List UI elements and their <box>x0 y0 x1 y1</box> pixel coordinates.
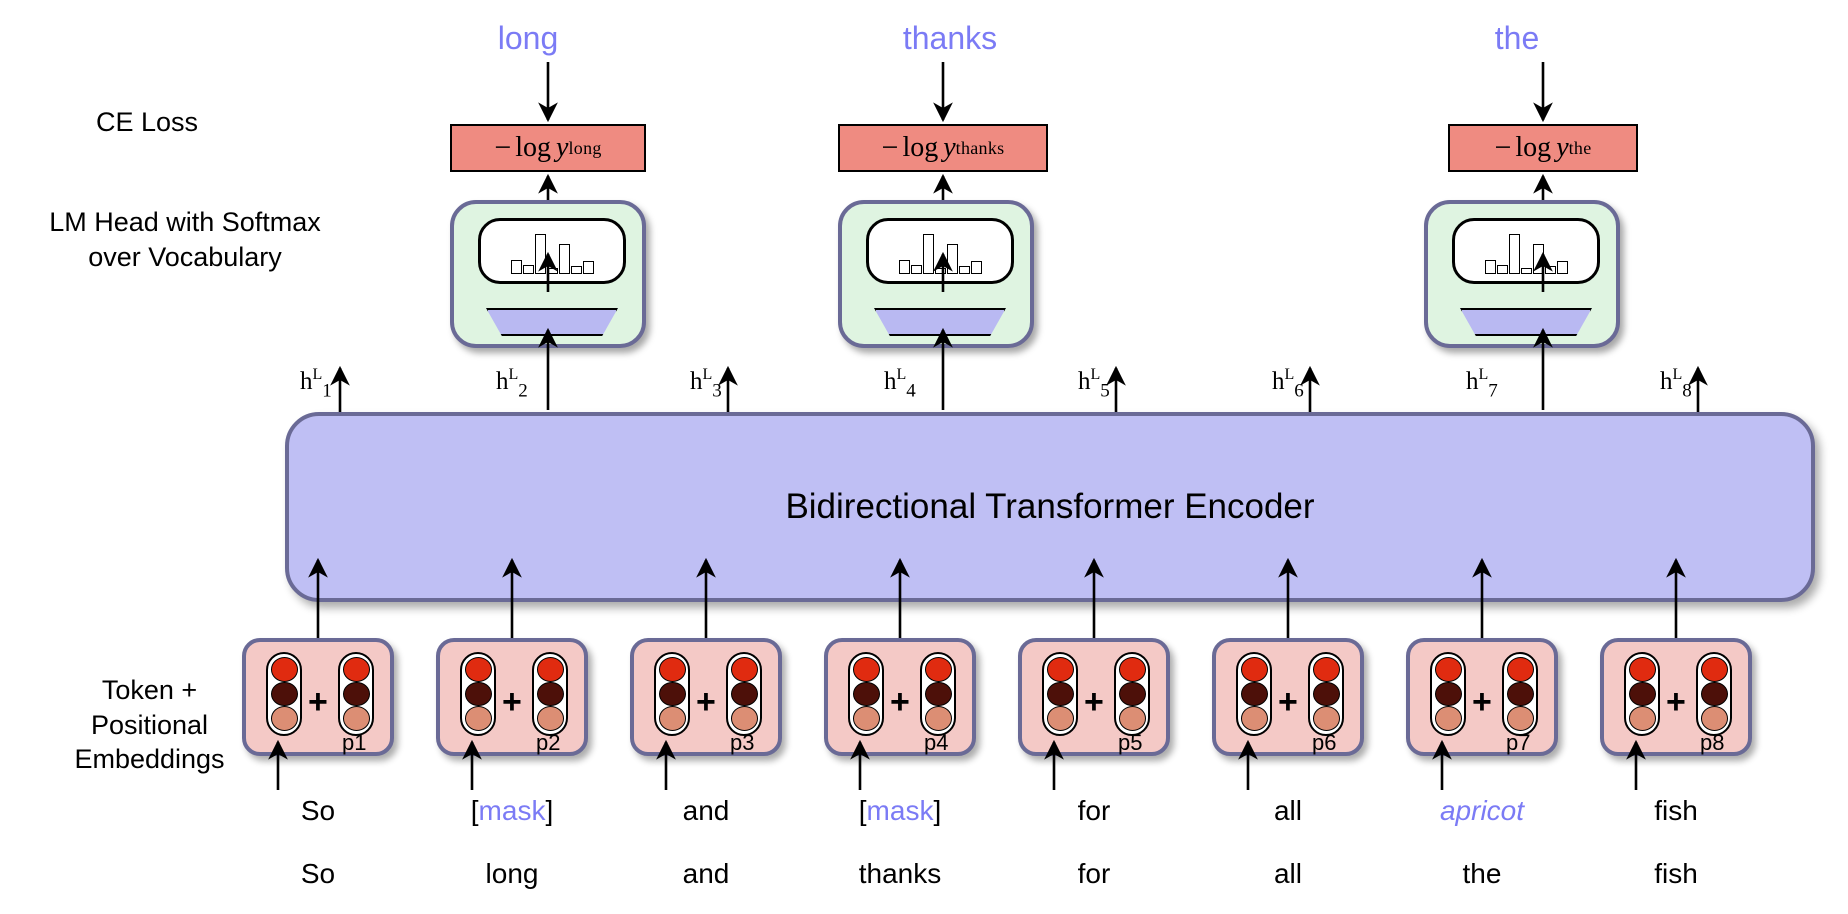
histogram-bar <box>547 268 558 274</box>
histogram-bar <box>1545 266 1556 274</box>
input-token-6: all <box>1178 795 1398 827</box>
plus-icon: + <box>1472 685 1492 719</box>
hlab-sup: L <box>703 366 713 383</box>
histogram-bars-1 <box>481 230 623 274</box>
plus-icon: + <box>1278 685 1298 719</box>
embedding-cell <box>343 657 370 682</box>
original-token-3: and <box>596 858 816 890</box>
positional-embedding-vector-icon <box>338 652 374 736</box>
token-embedding-vector-icon <box>1430 652 1466 736</box>
embedding-cell <box>465 682 492 707</box>
hlab-sub: 8 <box>1682 381 1692 402</box>
token-embedding-vector-icon <box>848 652 884 736</box>
projection-trapezoid-icon <box>1460 308 1592 336</box>
token-positional-embeddings-label: Token + Positional Embeddings <box>42 673 257 777</box>
plus-icon: + <box>696 685 716 719</box>
embedding-cell <box>1507 657 1534 682</box>
ce-loss-box-long: −logylong <box>450 124 646 172</box>
positional-embedding-vector-icon <box>1696 652 1732 736</box>
position-label-p5: p5 <box>1118 730 1142 756</box>
hlab-base: h <box>1466 368 1479 395</box>
hlab-sub: 6 <box>1294 381 1304 402</box>
embedding-cell <box>731 657 758 682</box>
hlab-base: h <box>690 368 703 395</box>
input-token-1: So <box>208 795 428 827</box>
hlab-sup: L <box>1091 366 1101 383</box>
embedding-cell <box>1629 657 1656 682</box>
ce-loss-box-thanks: −logythanks <box>838 124 1048 172</box>
original-token-1: So <box>208 858 428 890</box>
embedding-cell <box>1047 657 1074 682</box>
histogram-bar <box>535 234 546 274</box>
embedding-cell <box>925 682 952 707</box>
hlab-sub: 5 <box>1100 381 1110 402</box>
embedding-cell <box>1629 706 1656 731</box>
predicted-word-thanks: thanks <box>855 20 1045 57</box>
histogram-bar <box>1521 268 1532 274</box>
hlab-sup: L <box>1673 366 1683 383</box>
token-embedding-vector-icon <box>266 652 302 736</box>
embedding-cell <box>1313 657 1340 682</box>
hlab-base: h <box>1272 368 1285 395</box>
emb-label-line3: Embeddings <box>42 742 257 777</box>
histogram-bar <box>911 265 922 274</box>
embedding-cell <box>1629 682 1656 707</box>
projection-trapezoid-icon <box>486 308 618 336</box>
input-token-5: for <box>984 795 1204 827</box>
position-label-p8: p8 <box>1700 730 1724 756</box>
positional-embedding-vector-icon <box>1308 652 1344 736</box>
embedding-block-3: +p3 <box>630 638 782 756</box>
input-token-3: and <box>596 795 816 827</box>
histogram-bar <box>935 268 946 274</box>
projection-trapezoid-icon <box>874 308 1006 336</box>
ce-loss-subscript-the: the <box>1569 138 1592 159</box>
histogram-bar <box>583 261 594 274</box>
hlab-base: h <box>884 368 897 395</box>
hlab-sub: 7 <box>1488 381 1498 402</box>
embedding-cell <box>465 706 492 731</box>
original-token-5: for <box>984 858 1204 890</box>
emb-label-line1: Token + <box>42 673 257 708</box>
input-token-4: [mask] <box>790 795 1010 827</box>
position-label-p2: p2 <box>536 730 560 756</box>
embedding-cell <box>659 657 686 682</box>
bidirectional-transformer-encoder: Bidirectional Transformer Encoder <box>285 412 1815 602</box>
softmax-histogram-icon <box>478 218 626 284</box>
embedding-cell <box>1241 657 1268 682</box>
hlab-sup: L <box>897 366 907 383</box>
token-embedding-vector-icon <box>654 652 690 736</box>
input-token-8: fish <box>1566 795 1786 827</box>
embedding-cell <box>925 657 952 682</box>
embedding-block-5: +p5 <box>1018 638 1170 756</box>
histogram-bar <box>971 261 982 274</box>
embedding-cell <box>343 706 370 731</box>
embedding-cell <box>1701 682 1728 707</box>
embedding-cell <box>465 657 492 682</box>
hlab-sub: 4 <box>906 381 916 402</box>
histogram-bar <box>1497 265 1508 274</box>
embedding-cell <box>343 682 370 707</box>
ce-loss-label: CE Loss <box>42 105 252 140</box>
embedding-cell <box>1313 682 1340 707</box>
embedding-cell <box>853 706 880 731</box>
hlab-sup: L <box>1479 366 1489 383</box>
embedding-cell <box>271 706 298 731</box>
position-label-p7: p7 <box>1506 730 1530 756</box>
lm-head-label: LM Head with Softmax over Vocabulary <box>15 205 355 274</box>
histogram-bar <box>1485 260 1496 274</box>
embedding-block-8: +p8 <box>1600 638 1752 756</box>
embedding-block-1: +p1 <box>242 638 394 756</box>
histogram-bar <box>899 260 910 274</box>
histogram-bar <box>1509 234 1520 274</box>
embedding-cell <box>1119 682 1146 707</box>
token-embedding-vector-icon <box>460 652 496 736</box>
embedding-cell <box>1119 706 1146 731</box>
hidden-state-label-2: hL2 <box>496 366 528 403</box>
positional-embedding-vector-icon <box>726 652 762 736</box>
histogram-bar <box>959 266 970 274</box>
embedding-cell <box>853 657 880 682</box>
embedding-cell <box>537 682 564 707</box>
embedding-cell <box>1241 706 1268 731</box>
plus-icon: + <box>308 685 328 719</box>
hidden-state-label-7: hL7 <box>1466 366 1498 403</box>
original-token-7: the <box>1372 858 1592 890</box>
hidden-state-label-8: hL8 <box>1660 366 1692 403</box>
softmax-histogram-icon <box>866 218 1014 284</box>
positional-embedding-vector-icon <box>532 652 568 736</box>
histogram-bar <box>947 244 958 274</box>
histogram-bar <box>571 266 582 274</box>
hlab-base: h <box>496 368 509 395</box>
embedding-block-7: +p7 <box>1406 638 1558 756</box>
hidden-state-label-3: hL3 <box>690 366 722 403</box>
hlab-sub: 3 <box>712 381 722 402</box>
ce-loss-text: CE Loss <box>96 107 198 137</box>
histogram-bars-2 <box>869 230 1011 274</box>
hlab-base: h <box>1078 368 1091 395</box>
embedding-cell <box>271 682 298 707</box>
input-token-2: [mask] <box>402 795 622 827</box>
input-token-7: apricot <box>1372 795 1592 827</box>
original-token-6: all <box>1178 858 1398 890</box>
lm-head-block-3 <box>1424 200 1620 348</box>
hlab-sub: 1 <box>322 381 332 402</box>
embedding-cell <box>659 706 686 731</box>
embedding-cell <box>271 657 298 682</box>
token-embedding-vector-icon <box>1042 652 1078 736</box>
hlab-sub: 2 <box>518 381 528 402</box>
ce-loss-box-the: −logythe <box>1448 124 1638 172</box>
predicted-word-the: the <box>1437 20 1597 57</box>
embedding-block-4: +p4 <box>824 638 976 756</box>
original-token-4: thanks <box>790 858 1010 890</box>
histogram-bar <box>923 234 934 274</box>
lm-head-label-line1: LM Head with Softmax <box>15 205 355 240</box>
embedding-cell <box>1507 682 1534 707</box>
histogram-bars-3 <box>1455 230 1597 274</box>
embedding-cell <box>1241 682 1268 707</box>
hlab-sup: L <box>313 366 323 383</box>
embedding-cell <box>1047 706 1074 731</box>
plus-icon: + <box>502 685 522 719</box>
ce-loss-subscript-long: long <box>568 138 601 159</box>
ce-loss-subscript-thanks: thanks <box>956 138 1005 159</box>
plus-icon: + <box>1666 685 1686 719</box>
positional-embedding-vector-icon <box>1502 652 1538 736</box>
hlab-sup: L <box>509 366 519 383</box>
embedding-block-2: +p2 <box>436 638 588 756</box>
embedding-cell <box>1119 657 1146 682</box>
embedding-cell <box>1701 657 1728 682</box>
hidden-state-label-4: hL4 <box>884 366 916 403</box>
plus-icon: + <box>890 685 910 719</box>
embedding-cell <box>537 657 564 682</box>
hlab-sup: L <box>1285 366 1295 383</box>
plus-icon: + <box>1084 685 1104 719</box>
positional-embedding-vector-icon <box>1114 652 1150 736</box>
lm-head-block-1 <box>450 200 646 348</box>
histogram-bar <box>1557 261 1568 274</box>
emb-label-line2: Positional <box>42 708 257 743</box>
hlab-base: h <box>1660 368 1673 395</box>
embedding-cell <box>731 682 758 707</box>
embedding-cell <box>925 706 952 731</box>
position-label-p1: p1 <box>342 730 366 756</box>
embedding-cell <box>1313 706 1340 731</box>
embedding-cell <box>1047 682 1074 707</box>
embedding-cell <box>731 706 758 731</box>
hidden-state-label-1: hL1 <box>300 366 332 403</box>
original-token-2: long <box>402 858 622 890</box>
hidden-state-label-5: hL5 <box>1078 366 1110 403</box>
embedding-cell <box>659 682 686 707</box>
embedding-cell <box>1435 682 1462 707</box>
histogram-bar <box>511 260 522 274</box>
hidden-state-label-6: hL6 <box>1272 366 1304 403</box>
encoder-title: Bidirectional Transformer Encoder <box>785 487 1314 527</box>
position-label-p6: p6 <box>1312 730 1336 756</box>
lm-head-label-line2: over Vocabulary <box>15 240 355 275</box>
position-label-p3: p3 <box>730 730 754 756</box>
hlab-base: h <box>300 368 313 395</box>
positional-embedding-vector-icon <box>920 652 956 736</box>
softmax-histogram-icon <box>1452 218 1600 284</box>
embedding-cell <box>1435 657 1462 682</box>
position-label-p4: p4 <box>924 730 948 756</box>
token-embedding-vector-icon <box>1624 652 1660 736</box>
histogram-bar <box>559 244 570 274</box>
embedding-cell <box>853 682 880 707</box>
embedding-block-6: +p6 <box>1212 638 1364 756</box>
histogram-bar <box>523 265 534 274</box>
predicted-word-long: long <box>448 20 608 57</box>
embedding-cell <box>1507 706 1534 731</box>
embedding-cell <box>1435 706 1462 731</box>
embedding-cell <box>537 706 564 731</box>
embedding-cell <box>1701 706 1728 731</box>
histogram-bar <box>1533 244 1544 274</box>
original-token-8: fish <box>1566 858 1786 890</box>
token-embedding-vector-icon <box>1236 652 1272 736</box>
lm-head-block-2 <box>838 200 1034 348</box>
